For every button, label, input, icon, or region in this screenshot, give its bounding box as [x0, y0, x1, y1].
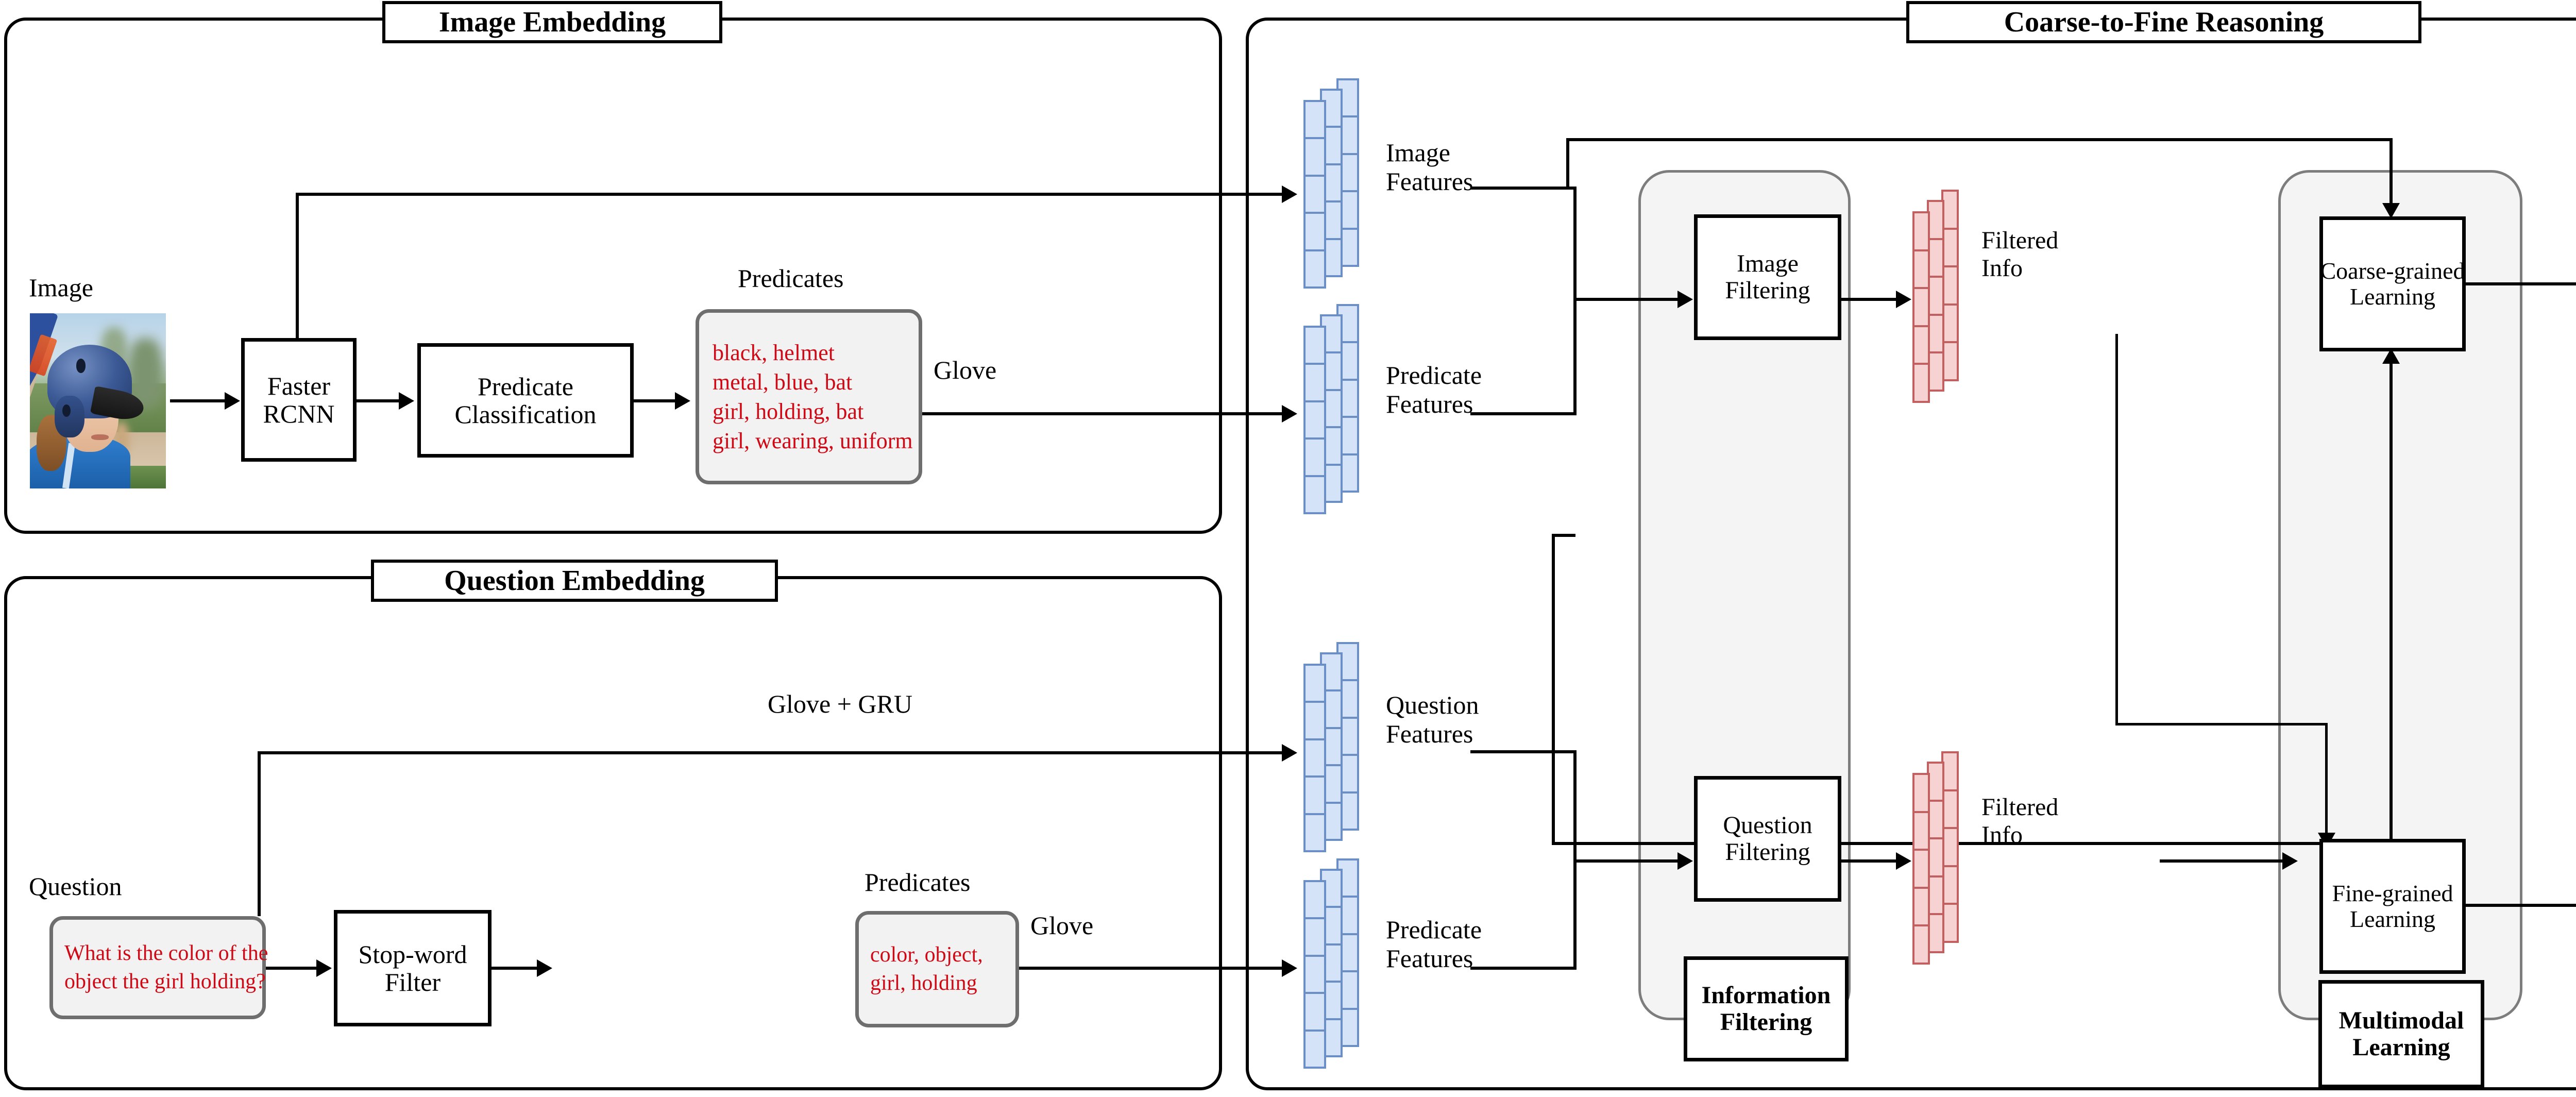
information-filtering-line2: Filtering	[1720, 1009, 1812, 1036]
edge-classifier-to-predicates	[634, 399, 678, 402]
edge-detector-to-classifier	[357, 399, 402, 402]
image-filtering-line2: Filtering	[1725, 277, 1810, 304]
question-text-line1: What is the color of the	[64, 939, 268, 968]
edge-qfeat-left-riser	[1552, 534, 1555, 842]
question-features-label: Question Features	[1386, 690, 1479, 748]
arrow-to-predicate-features-bottom	[1282, 959, 1297, 977]
edge-question-predicates-to-features	[1019, 967, 1285, 970]
edge-qfeat-left-stub	[1552, 534, 1575, 537]
arrow-stopword-to-predicates	[537, 959, 552, 977]
arrow-merge-to-question-filtering	[1677, 852, 1693, 870]
edge-fine-drop	[2325, 723, 2328, 839]
faster-rcnn-line1: Faster	[267, 372, 330, 400]
edge-imgfilter-to-filtered	[1841, 298, 1899, 301]
arrow-to-predicate-features-top	[1282, 405, 1297, 423]
edge-filtered-bottom-to-fine	[2160, 859, 2285, 863]
question-predicates-box: color, object, girl, holding	[855, 911, 1019, 1027]
question-predicate-0: color, object,	[870, 941, 983, 969]
coarse-to-fine-title: Coarse-to-Fine Reasoning	[1906, 1, 2421, 43]
edge-imgfeat-merge-a	[1470, 187, 1577, 190]
image-predicates-box: black, helmet metal, blue, bat girl, hol…	[696, 309, 922, 484]
image-embedding-title-label: Image Embedding	[439, 6, 666, 39]
question-predicates-caption: Predicates	[865, 868, 970, 897]
question-glove-label: Glove	[1030, 911, 1093, 940]
edge-fine-out	[2466, 904, 2576, 907]
edge-detector-skip-horizontal	[296, 193, 1285, 196]
question-embedding-title-label: Question Embedding	[444, 564, 705, 597]
figure-canvas: Image Embedding Question Embedding Coars…	[0, 0, 2576, 1097]
information-filtering-line1: Information	[1702, 982, 1831, 1009]
predicate-features-vector-lower	[1299, 858, 1371, 1075]
coarse-grained-learning-box: Coarse-grained Learning	[2319, 216, 2466, 351]
edge-question-skip-vertical	[258, 751, 261, 916]
edge-question-skip-horizontal	[258, 751, 1285, 754]
arrow-detector-to-classifier	[399, 392, 414, 410]
image-predicate-2: girl, holding, bat	[713, 397, 863, 426]
information-filtering-label-box: Information Filtering	[1684, 956, 1849, 1061]
edge-stopword-to-predicates	[492, 967, 540, 970]
arrow-classifier-to-predicates	[675, 392, 690, 410]
fine-grained-learning-box: Fine-grained Learning	[2319, 839, 2466, 974]
image-features-vector	[1299, 78, 1371, 295]
edge-qfeat-merge-a	[1470, 750, 1577, 753]
image-predicate-1: metal, blue, bat	[713, 367, 852, 397]
question-text-box: What is the color of the object the girl…	[49, 916, 266, 1019]
filtered-info-label-top: Filtered Info	[1981, 227, 2058, 282]
edge-detector-skip-vertical	[296, 193, 299, 340]
multimodal-learning-label-box: Multimodal Learning	[2318, 980, 2484, 1088]
arrow-merge-to-image-filtering	[1677, 291, 1693, 308]
edge-filtered-top-to-fine	[2115, 723, 2328, 725]
arrow-image-to-detector	[225, 392, 240, 410]
faster-rcnn-box: Faster RCNN	[241, 338, 357, 462]
image-input-label: Image	[29, 273, 93, 302]
edge-qfilter-to-filtered	[1841, 859, 1899, 863]
edge-merge-to-question-filtering	[1573, 859, 1681, 863]
stopword-filter-box: Stop-word Filter	[334, 910, 492, 1026]
fine-grained-line2: Learning	[2350, 906, 2435, 932]
coarse-grained-line2: Learning	[2350, 284, 2435, 310]
faster-rcnn-line2: RCNN	[263, 400, 335, 428]
question-input-label: Question	[29, 872, 122, 901]
multimodal-learning-line2: Learning	[2352, 1034, 2450, 1061]
edge-image-to-detector	[170, 399, 228, 402]
image-filtering-line1: Image	[1737, 250, 1799, 277]
filtered-info-vector-bottom	[1909, 751, 1971, 968]
glove-gru-label: Glove + GRU	[768, 689, 912, 718]
predicate-classification-line1: Predicate	[478, 373, 573, 400]
image-predicate-0: black, helmet	[713, 338, 835, 367]
multimodal-learning-line1: Multimodal	[2339, 1007, 2464, 1034]
image-glove-label: Glove	[934, 356, 996, 384]
question-text-line2: object the girl holding?	[64, 968, 266, 996]
image-predicates-caption: Predicates	[738, 264, 843, 293]
filtered-info-label-bottom: Filtered Info	[1981, 794, 2058, 849]
image-filtering-box: Image Filtering	[1694, 214, 1841, 340]
edge-coarse-out	[2466, 282, 2576, 285]
arrow-to-image-features	[1282, 185, 1297, 203]
arrow-question-to-stopword	[316, 959, 332, 977]
edge-predfeat-merge-a	[1470, 412, 1577, 415]
predicate-classification-line2: Classification	[455, 400, 597, 428]
predicate-features-label-lower: Predicate Features	[1386, 915, 1482, 973]
arrow-filtered-bottom-to-fine	[2282, 852, 2298, 870]
edge-imgfeat-skip-vertical	[1566, 138, 1569, 188]
edge-merge-vertical-upper	[1573, 187, 1577, 415]
fine-grained-line1: Fine-grained	[2332, 881, 2453, 906]
image-embedding-title: Image Embedding	[382, 1, 722, 43]
filtered-info-vector-top	[1909, 190, 1971, 406]
question-predicate-1: girl, holding	[870, 969, 977, 998]
question-filtering-line1: Question	[1723, 812, 1812, 839]
coarse-grained-line1: Coarse-grained	[2320, 258, 2465, 284]
input-image-thumbnail	[30, 313, 166, 488]
question-features-vector	[1299, 642, 1371, 858]
predicate-features-label-upper: Predicate Features	[1386, 361, 1482, 418]
edge-predfeat2-merge-a	[1470, 967, 1577, 970]
edge-predicates-to-predicate-features	[922, 412, 1285, 415]
stopword-filter-line1: Stop-word	[358, 940, 467, 968]
predicate-classification-box: Predicate Classification	[417, 343, 634, 458]
coarse-to-fine-title-label: Coarse-to-Fine Reasoning	[2004, 6, 2324, 39]
edge-imgfeat-skip-top	[1566, 138, 2393, 141]
question-embedding-title: Question Embedding	[371, 560, 778, 602]
edge-bottom-route-horizontal	[1552, 842, 2393, 845]
question-filtering-line2: Filtering	[1725, 839, 1810, 866]
edge-merge-to-image-filtering	[1573, 298, 1681, 301]
image-features-label: Image Features	[1386, 138, 1473, 196]
arrow-to-question-features	[1282, 744, 1297, 762]
stopword-filter-line2: Filter	[385, 968, 440, 996]
predicate-features-vector-upper	[1299, 304, 1371, 520]
edge-bottom-route-riser	[2389, 361, 2393, 842]
question-filtering-box: Question Filtering	[1694, 776, 1841, 902]
edge-filtered-top-down	[2115, 334, 2118, 725]
edge-coarse-feed-vertical	[2389, 138, 2393, 209]
image-predicate-3: girl, wearing, uniform	[713, 426, 913, 455]
edge-question-to-stopword	[266, 967, 319, 970]
